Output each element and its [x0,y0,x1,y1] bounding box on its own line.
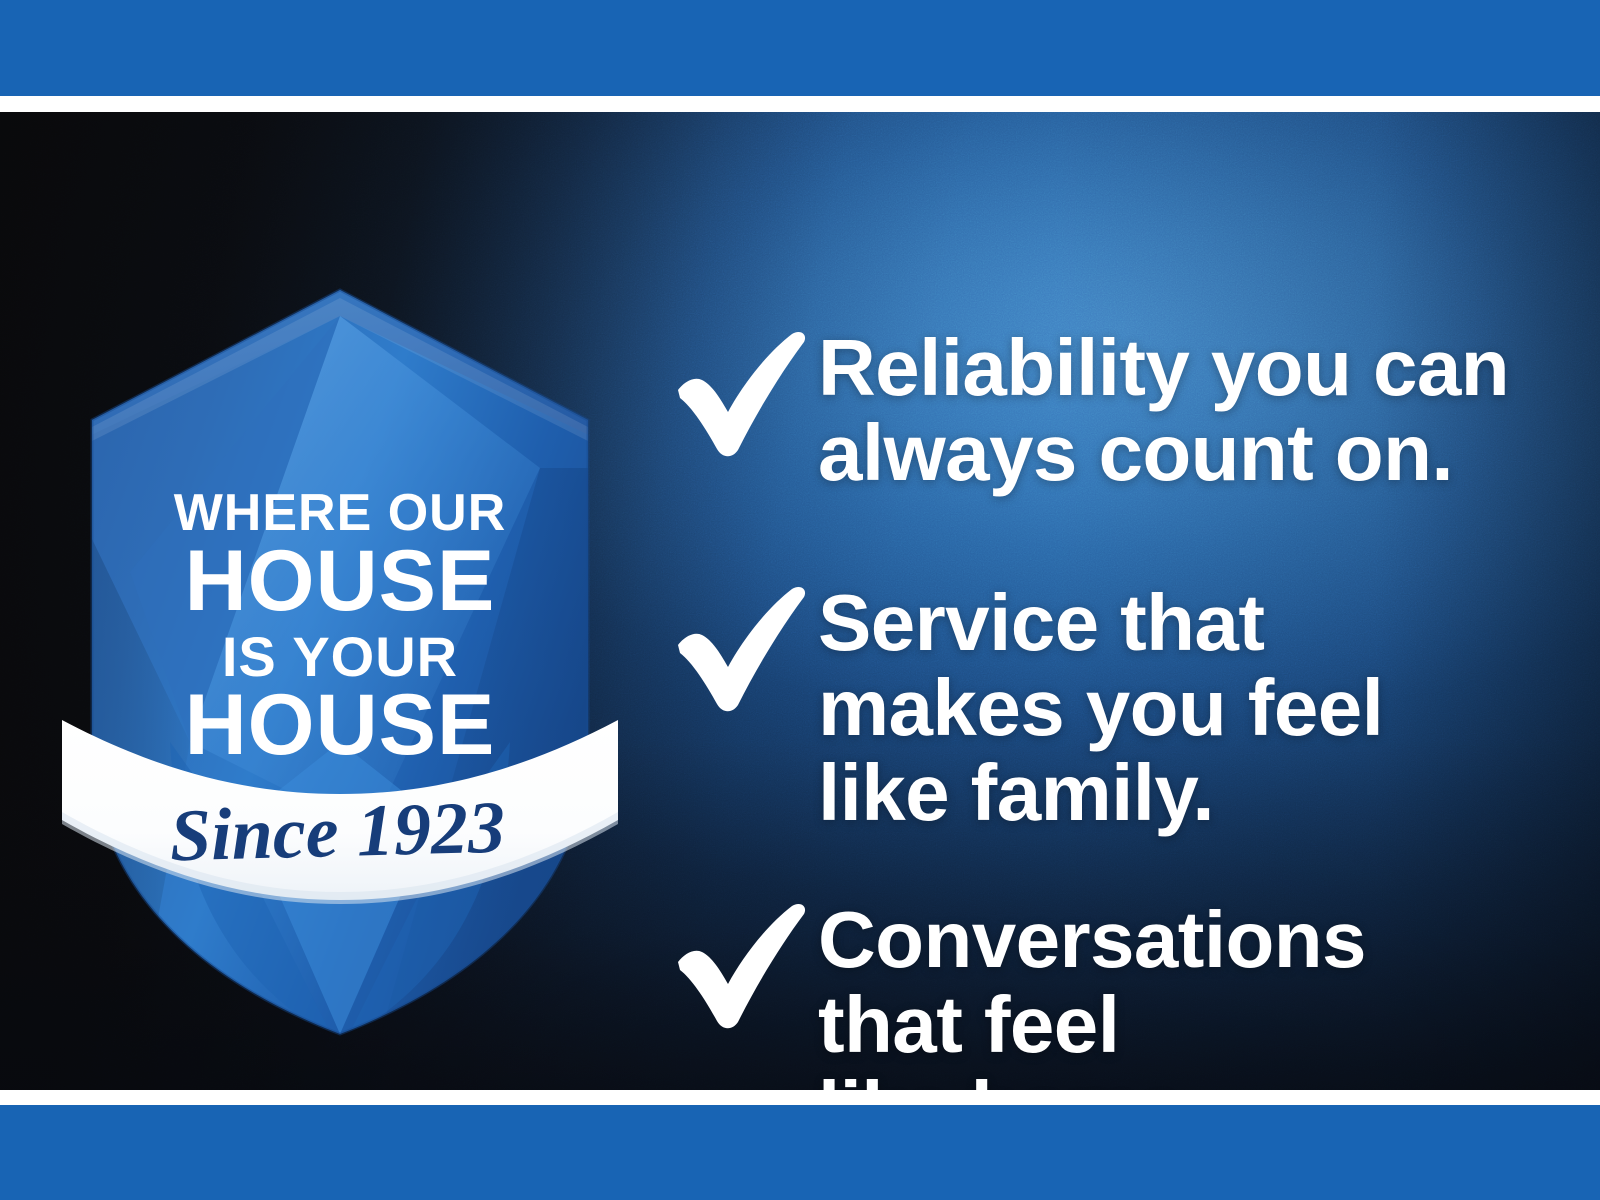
checkmark-icon [668,583,818,713]
ribbon-text: Since 1923 [169,787,506,878]
benefit-item-2: Service that makes you feel like family. [668,579,1548,835]
shield-line-4: HOUSE [185,677,496,773]
shield-line-2: HOUSE [185,533,496,629]
benefit-item-3: Conversations that feel like home. [668,896,1548,1090]
benefit-text-1: Reliability you can always count on. [818,324,1548,496]
shield-text-block: WHERE OUR HOUSE IS YOUR HOUSE [174,484,507,773]
brand-bar-top [0,0,1600,96]
checkmark-icon [668,900,818,1030]
brand-bar-bottom [0,1105,1600,1200]
benefit-text-2: Service that makes you feel like family. [818,579,1548,835]
checkmark-icon [668,328,818,458]
benefit-item-1: Reliability you can always count on. [668,324,1548,496]
benefits-list: Reliability you can always count on. Ser… [668,224,1548,1090]
promo-graphic: WHERE OUR HOUSE IS YOUR HOUSE Since 1923 [0,0,1600,1200]
since-1923-shield-badge: WHERE OUR HOUSE IS YOUR HOUSE Since 1923 [70,272,610,1052]
benefit-text-3: Conversations that feel like home. [818,896,1548,1090]
main-canvas: WHERE OUR HOUSE IS YOUR HOUSE Since 1923 [0,112,1600,1090]
